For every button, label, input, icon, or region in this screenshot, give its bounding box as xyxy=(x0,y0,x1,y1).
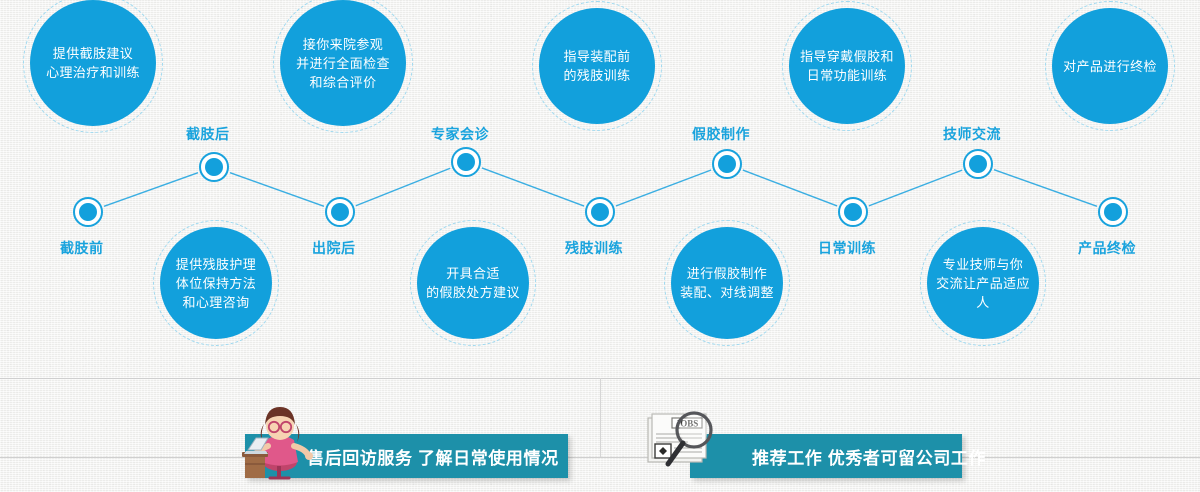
timeline-node-n1[interactable] xyxy=(73,197,103,227)
info-bubble-text: 指导装配前的残肢训练 xyxy=(563,47,630,85)
info-bubble-text-line: 对产品进行终检 xyxy=(1063,57,1157,76)
info-bubble-text-line: 开具合适 xyxy=(426,264,520,283)
info-bubble-text: 提供残肢护理体位保持方法和心理咨询 xyxy=(176,255,256,312)
section-divider-vertical xyxy=(600,378,601,457)
timeline-node-label: 日常训练 xyxy=(818,238,876,258)
info-bubble-fill: 对产品进行终检 xyxy=(1052,8,1168,124)
timeline-node-n4[interactable] xyxy=(451,147,481,177)
timeline-node-label: 残肢训练 xyxy=(565,238,623,258)
connector-line xyxy=(869,170,962,206)
jobs-magnifier-icon: JOBS xyxy=(642,404,734,476)
info-bubble-fill: 指导穿戴假胶和日常功能训练 xyxy=(789,8,905,124)
info-bubble-b9[interactable]: 专业技师与你交流让产品适应人 xyxy=(920,220,1046,346)
info-bubble-text-line: 日常功能训练 xyxy=(800,66,894,85)
section-divider-bottom xyxy=(0,457,1200,458)
info-bubble-text-line: 并进行全面检查 xyxy=(296,54,390,73)
info-bubble-fill: 提供残肢护理体位保持方法和心理咨询 xyxy=(160,227,272,339)
timeline-node-n2[interactable] xyxy=(199,152,229,182)
info-bubble-text: 专业技师与你交流让产品适应人 xyxy=(933,255,1033,312)
connector-line xyxy=(616,170,711,206)
info-bubble-b3[interactable]: 指导装配前的残肢训练 xyxy=(532,1,662,131)
info-bubble-text-line: 进行假胶制作 xyxy=(680,264,774,283)
info-bubble-b6[interactable]: 提供残肢护理体位保持方法和心理咨询 xyxy=(153,220,279,346)
banner-text: 售后回访服务 了解日常使用情况 xyxy=(307,444,559,469)
woman-at-desk-icon xyxy=(240,400,318,480)
info-bubble-text-line: 装配、对线调整 xyxy=(680,283,774,302)
connector-line xyxy=(356,168,450,205)
timeline-node-label: 产品终检 xyxy=(1078,238,1136,258)
info-bubble-text: 接你来院参观并进行全面检查和综合评价 xyxy=(296,35,390,92)
info-bubble-fill: 指导装配前的残肢训练 xyxy=(539,8,655,124)
info-bubble-fill: 开具合适的假胶处方建议 xyxy=(417,227,529,339)
timeline-node-n7[interactable] xyxy=(838,197,868,227)
info-bubble-text-line: 和综合评价 xyxy=(296,73,390,92)
info-bubble-text: 对产品进行终检 xyxy=(1063,57,1157,76)
info-bubble-fill: 进行假胶制作装配、对线调整 xyxy=(671,227,783,339)
timeline-node-n6[interactable] xyxy=(712,149,742,179)
info-bubble-text-line: 指导装配前 xyxy=(563,47,630,66)
connector-line xyxy=(230,173,324,207)
info-bubble-text-line: 心理治疗和训练 xyxy=(46,63,140,82)
info-bubble-b7[interactable]: 开具合适的假胶处方建议 xyxy=(410,220,536,346)
info-bubble-b4[interactable]: 指导穿戴假胶和日常功能训练 xyxy=(782,1,912,131)
info-bubble-text: 开具合适的假胶处方建议 xyxy=(426,264,520,302)
timeline-stage: 截肢前截肢后出院后专家会诊残肢训练假胶制作日常训练技师交流产品终检 提供截肢建议… xyxy=(0,0,1200,492)
timeline-node-label: 专家会诊 xyxy=(431,124,489,144)
info-bubble-text-line: 的假胶处方建议 xyxy=(426,283,520,302)
timeline-node-label: 出院后 xyxy=(312,238,356,258)
timeline-node-label: 技师交流 xyxy=(943,124,1001,144)
info-bubble-text-line: 体位保持方法 xyxy=(176,274,256,293)
info-bubble-b2[interactable]: 接你来院参观并进行全面检查和综合评价 xyxy=(273,0,413,133)
info-bubble-text-line: 提供残肢护理 xyxy=(176,255,256,274)
info-bubble-b1[interactable]: 提供截肢建议心理治疗和训练 xyxy=(23,0,163,133)
timeline-node-n9[interactable] xyxy=(1098,197,1128,227)
info-bubble-text-line: 的残肢训练 xyxy=(563,66,630,85)
info-bubble-text-line: 接你来院参观 xyxy=(296,35,390,54)
timeline-node-n8[interactable] xyxy=(963,149,993,179)
info-bubble-text-line: 指导穿戴假胶和 xyxy=(800,47,894,66)
info-bubble-fill: 提供截肢建议心理治疗和训练 xyxy=(30,0,156,126)
info-bubble-fill: 接你来院参观并进行全面检查和综合评价 xyxy=(280,0,406,126)
connector-line xyxy=(482,168,584,206)
banner-text: 推荐工作 优秀者可留公司工作 xyxy=(752,444,986,469)
timeline-node-label: 假胶制作 xyxy=(692,124,750,144)
timeline-node-n5[interactable] xyxy=(585,197,615,227)
timeline-node-label: 截肢前 xyxy=(60,238,104,258)
info-bubble-text-line: 提供截肢建议 xyxy=(46,44,140,63)
info-bubble-text-line: 专业技师与你 xyxy=(933,255,1033,274)
info-bubble-text-line: 和心理咨询 xyxy=(176,293,256,312)
timeline-node-n3[interactable] xyxy=(325,197,355,227)
info-bubble-b5[interactable]: 对产品进行终检 xyxy=(1045,1,1175,131)
connector-line xyxy=(104,173,198,207)
info-bubble-b8[interactable]: 进行假胶制作装配、对线调整 xyxy=(664,220,790,346)
info-bubble-text-line: 交流让产品适应人 xyxy=(933,274,1033,312)
info-bubble-fill: 专业技师与你交流让产品适应人 xyxy=(927,227,1039,339)
connector-line xyxy=(743,170,837,206)
info-bubble-text: 指导穿戴假胶和日常功能训练 xyxy=(800,47,894,85)
info-bubble-text: 进行假胶制作装配、对线调整 xyxy=(680,264,774,302)
info-bubble-text: 提供截肢建议心理治疗和训练 xyxy=(46,44,140,82)
timeline-node-label: 截肢后 xyxy=(186,124,230,144)
connector-line xyxy=(994,170,1097,207)
